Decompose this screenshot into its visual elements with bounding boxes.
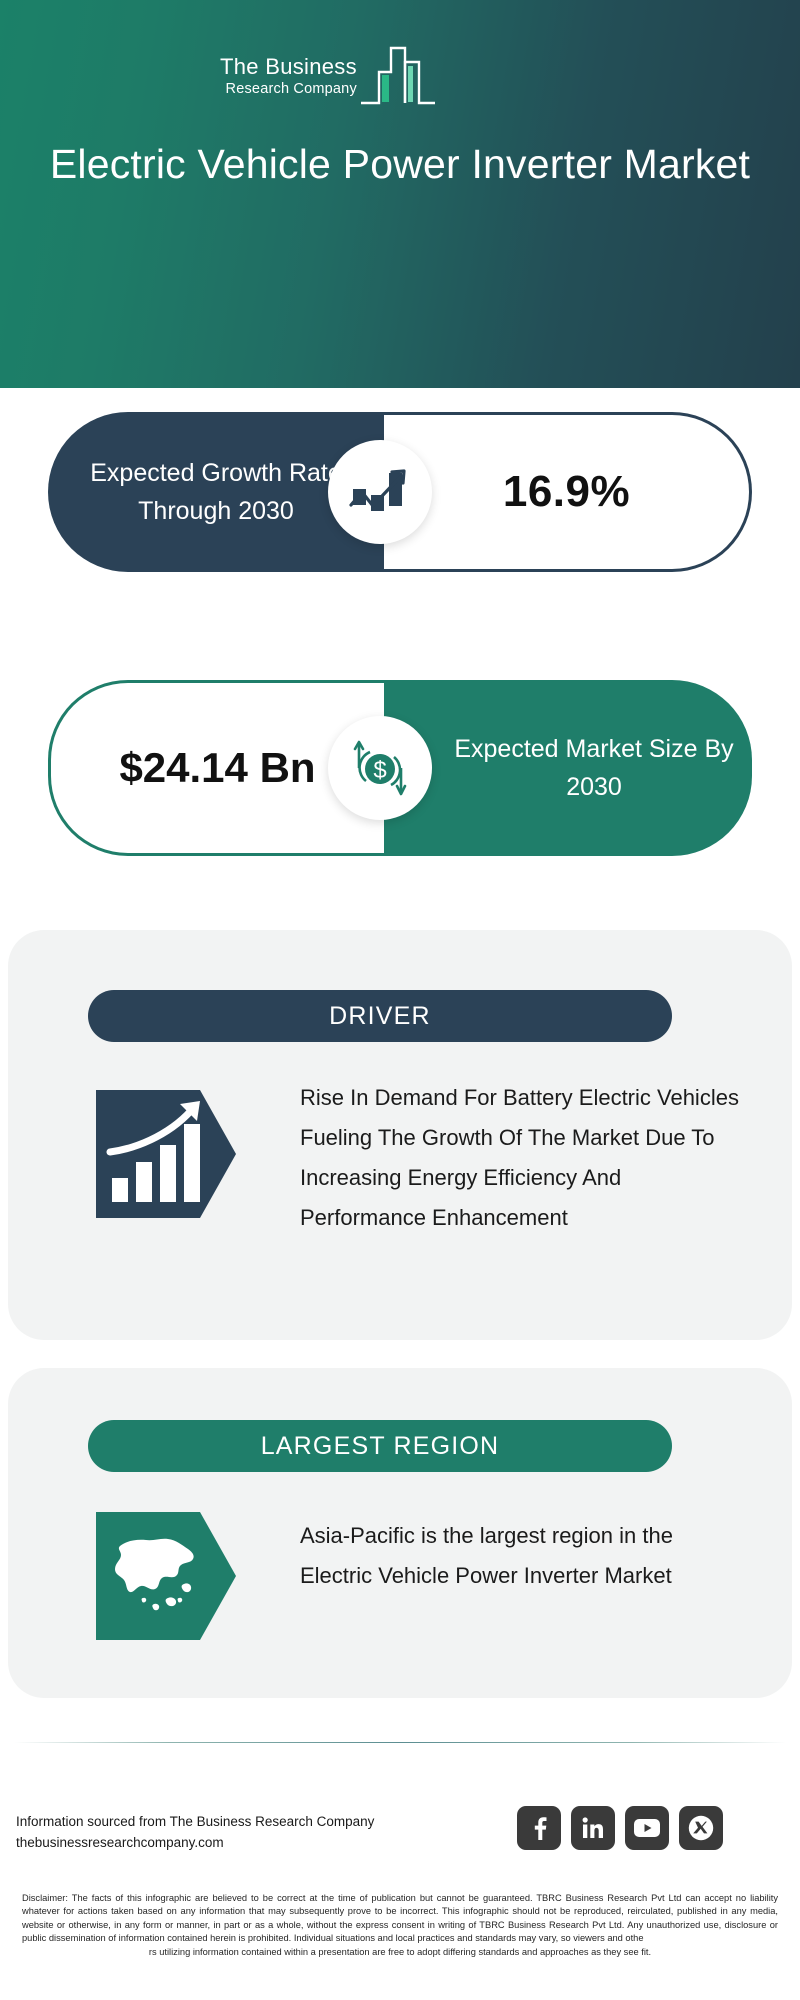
growth-rate-value-pill: 16.9% xyxy=(384,412,752,572)
bar-chart-logo-mark xyxy=(359,42,437,106)
logo-line-2: Research Company xyxy=(226,80,357,98)
largest-region-heading: LARGEST REGION xyxy=(261,1432,500,1461)
largest-region-body-text: Asia-Pacific is the largest region in th… xyxy=(300,1516,720,1596)
source-line: Information sourced from The Business Re… xyxy=(16,1811,436,1832)
social-links xyxy=(517,1806,767,1856)
disclaimer-main: Disclaimer: The facts of this infographi… xyxy=(22,1893,778,1943)
dollar-refresh-icon: $ xyxy=(328,716,432,820)
svg-text:$: $ xyxy=(373,757,386,784)
market-size-card: $24.14 Bn Expected Market Size By 2030 $ xyxy=(48,680,752,856)
growth-bars-arrow-icon xyxy=(96,1090,236,1218)
disclaimer-last-line: rs utilizing information contained withi… xyxy=(22,1946,778,1959)
largest-region-panel: LARGEST REGION Asia-Pacific is the large… xyxy=(8,1368,792,1698)
page-title: Electric Vehicle Power Inverter Market xyxy=(0,140,800,189)
company-logo: The Business Research Company xyxy=(220,24,510,106)
linkedin-icon[interactable] xyxy=(571,1806,615,1850)
website-link[interactable]: thebusinessresearchcompany.com xyxy=(16,1832,436,1853)
market-size-label-pill: Expected Market Size By 2030 xyxy=(384,680,752,856)
facebook-icon[interactable] xyxy=(517,1806,561,1850)
driver-heading: DRIVER xyxy=(329,1002,431,1031)
asia-map-icon xyxy=(96,1512,236,1640)
footer-divider xyxy=(14,1742,786,1743)
bar-chart-arrow-up-icon xyxy=(328,440,432,544)
market-size-value: $24.14 Bn xyxy=(119,741,315,795)
x-twitter-icon[interactable] xyxy=(679,1806,723,1850)
growth-rate-card: Expected Growth Rate Through 2030 16.9% xyxy=(48,412,752,572)
infographic-page: The Business Research Company Electric V… xyxy=(0,0,800,2000)
driver-heading-pill: DRIVER xyxy=(88,990,672,1042)
driver-body-text: Rise In Demand For Battery Electric Vehi… xyxy=(300,1078,740,1238)
header-banner: The Business Research Company Electric V… xyxy=(0,0,800,388)
market-size-label: Expected Market Size By 2030 xyxy=(384,730,752,806)
largest-region-heading-pill: LARGEST REGION xyxy=(88,1420,672,1472)
source-attribution: Information sourced from The Business Re… xyxy=(16,1811,436,1853)
disclaimer-text: Disclaimer: The facts of this infographi… xyxy=(22,1892,778,1959)
logo-text: The Business Research Company xyxy=(220,54,357,106)
youtube-icon[interactable] xyxy=(625,1806,669,1850)
logo-line-1: The Business xyxy=(220,54,357,80)
driver-panel: DRIVER Rise In Demand For Battery Electr… xyxy=(8,930,792,1340)
growth-rate-value: 16.9% xyxy=(503,467,630,517)
